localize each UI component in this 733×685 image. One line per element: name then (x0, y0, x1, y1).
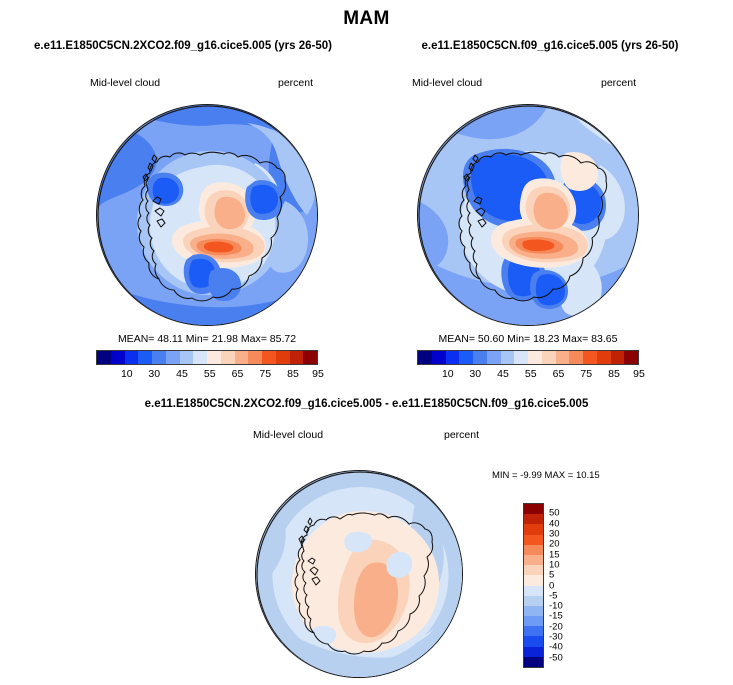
colorbar-difference-ticks: 50 40 30 20 15 10 5 0 -5 -10 -15 -20 -30… (549, 503, 583, 668)
colorbar-right-tick-4: 65 (553, 368, 565, 380)
colorbar-left-tick-5: 75 (259, 368, 271, 380)
panel-left-variable-label: Mid-level cloud (90, 77, 160, 89)
map-difference-antarctic (255, 470, 463, 678)
colorbar-right-tick-7: 95 (633, 368, 645, 380)
panel-right-variable-label: Mid-level cloud (412, 77, 482, 89)
map-left-antarctic (96, 104, 318, 326)
colorbar-right-tick-1: 30 (469, 368, 481, 380)
colorbar-right-tick-2: 45 (497, 368, 509, 380)
colorbar-right: 10 30 45 55 65 75 85 95 (417, 350, 639, 382)
season-title: MAM (0, 8, 733, 30)
map-right-antarctic (417, 104, 639, 326)
colorbar-left-tick-0: 10 (121, 368, 133, 380)
colorbar-left-tick-7: 95 (312, 368, 324, 380)
colorbar-left-swatches (96, 350, 318, 365)
colorbar-left-tick-6: 85 (287, 368, 299, 380)
colorbar-right-tick-0: 10 (442, 368, 454, 380)
panel-difference-minmax: MIN = -9.99 MAX = 10.15 (492, 470, 600, 481)
colorbar-left-tick-4: 65 (232, 368, 244, 380)
panel-left-stats: MEAN= 48.11 Min= 21.98 Max= 85.72 (96, 333, 318, 345)
panel-title-right: e.e11.E1850C5CN.f09_g16.cice5.005 (yrs 2… (367, 40, 733, 52)
panel-title-left: e.e11.E1850C5CN.2XCO2.f09_g16.cice5.005 … (0, 40, 366, 52)
colorbar-right-ticks: 10 30 45 55 65 75 85 95 (417, 368, 639, 382)
panel-left-units-label: percent (278, 77, 313, 89)
panel-title-difference: e.e11.E1850C5CN.2XCO2.f09_g16.cice5.005 … (0, 398, 733, 410)
colorbar-right-swatches (417, 350, 639, 365)
colorbar-left-tick-1: 30 (148, 368, 160, 380)
panel-right-stats: MEAN= 50.60 Min= 18.23 Max= 83.65 (417, 333, 639, 345)
panel-right-units-label: percent (601, 77, 636, 89)
colorbar-right-tick-3: 55 (525, 368, 537, 380)
colorbar-left: 10 30 45 55 65 75 85 95 (96, 350, 318, 382)
colorbar-difference-swatches (523, 503, 544, 668)
panel-difference-variable-label: Mid-level cloud (253, 429, 323, 441)
colorbar-left-ticks: 10 30 45 55 65 75 85 95 (96, 368, 318, 382)
colorbar-left-tick-2: 45 (176, 368, 188, 380)
colorbar-right-tick-5: 75 (580, 368, 592, 380)
panel-difference-units-label: percent (444, 429, 479, 441)
colorbar-diff-tick-14: -50 (549, 652, 563, 663)
colorbar-right-tick-6: 85 (608, 368, 620, 380)
colorbar-left-tick-3: 55 (204, 368, 216, 380)
